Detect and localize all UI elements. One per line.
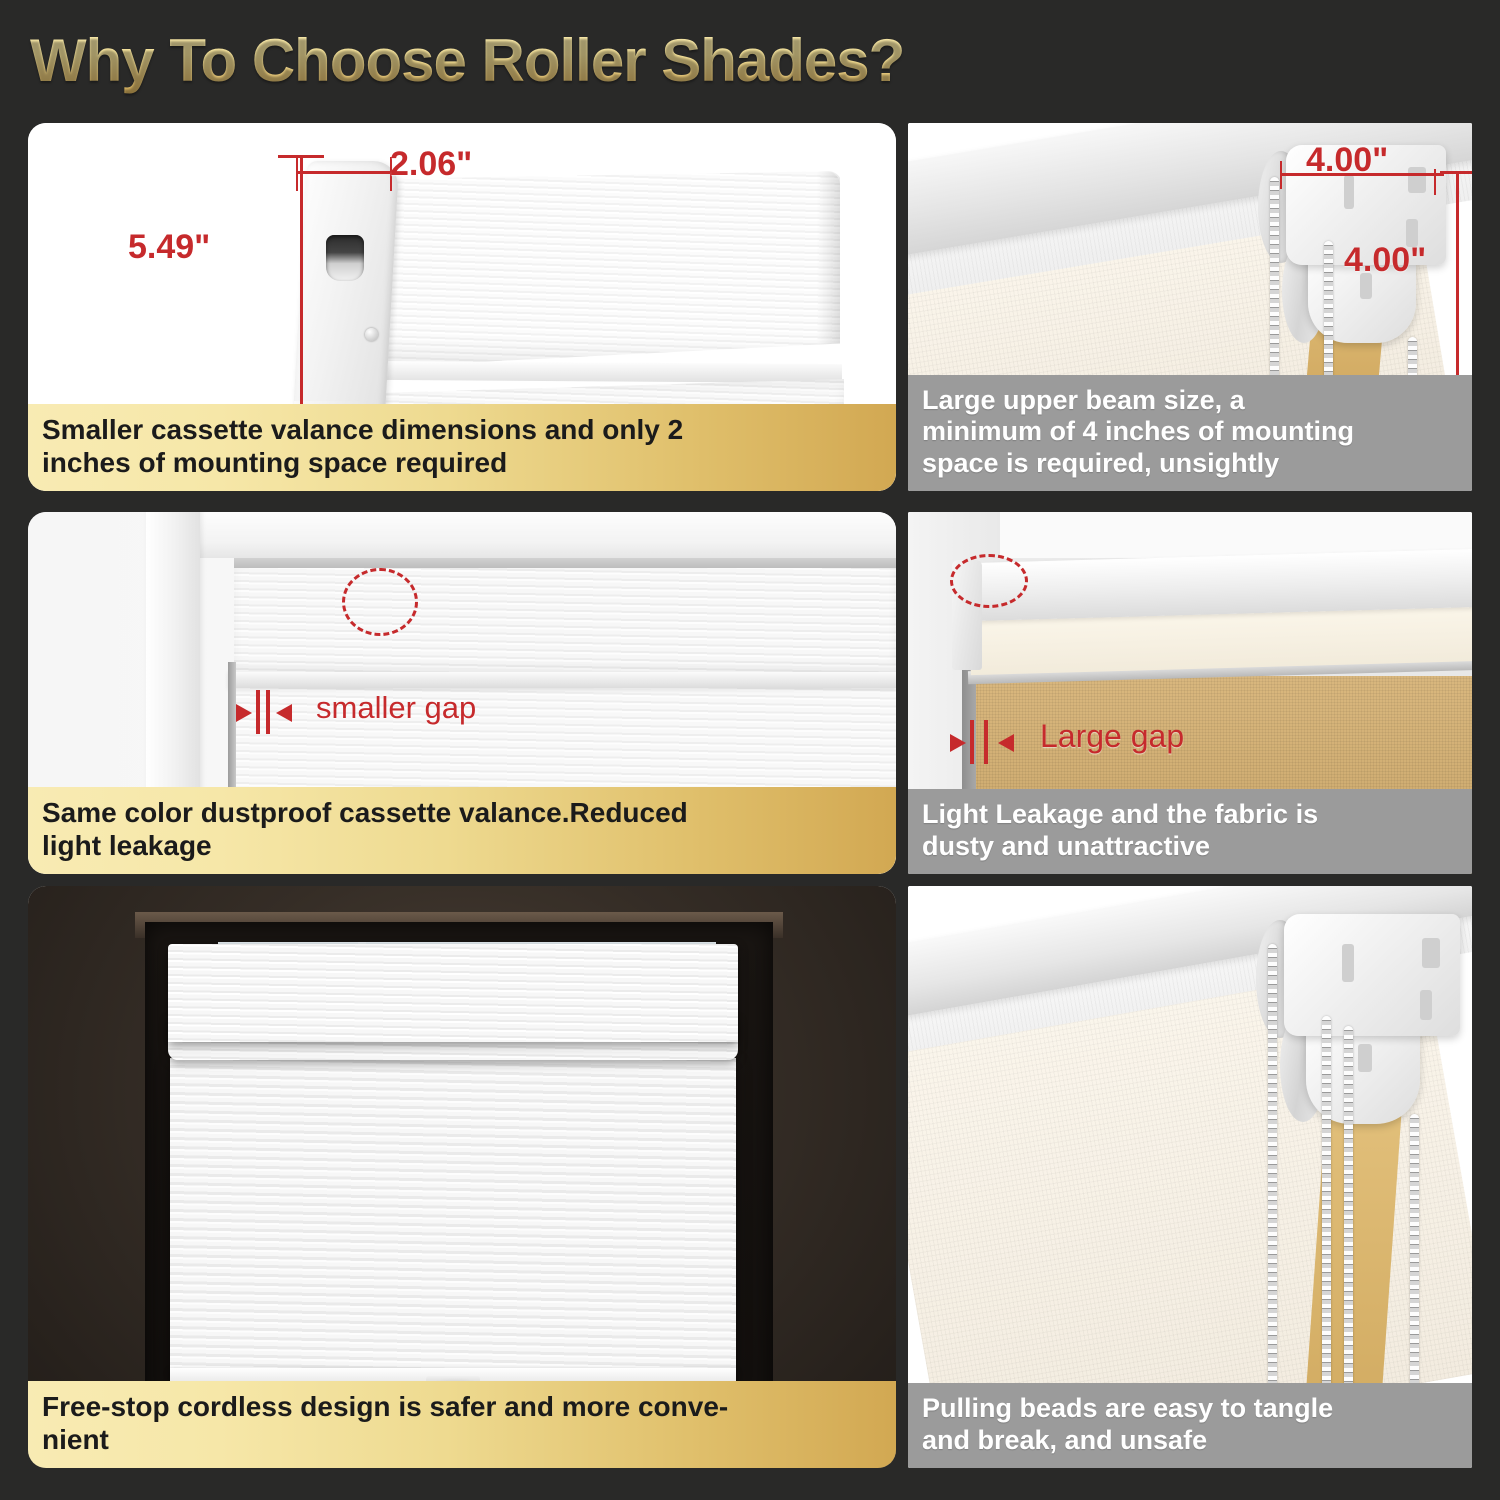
gap-callout-label-large: Large gap (1040, 718, 1184, 755)
caption-line: Pulling beads are easy to tangle (922, 1393, 1458, 1424)
dimension-label-width-400: 4.00" (1306, 141, 1388, 180)
caption-cassette-valance-dimensions: Smaller cassette valance dimensions and … (28, 404, 896, 491)
caption-free-stop-cordless-design: Free-stop cordless design is safer and m… (28, 1381, 896, 1468)
dimension-label-width-206: 2.06" (390, 145, 472, 184)
caption-line: Free-stop cordless design is safer and m… (42, 1391, 882, 1423)
panel-cassette-valance-dimensions[interactable]: 2.06" 5.49" Smaller cassette valance dim… (28, 123, 896, 491)
panel-pulling-beads-tangle[interactable]: Pulling beads are easy to tangle and bre… (908, 886, 1472, 1468)
caption-line: space is required, unsightly (922, 448, 1458, 479)
panel-dustproof-cassette-valance[interactable]: smaller gap Same color dustproof cassett… (28, 512, 896, 874)
panel-large-upper-beam[interactable]: 4.00" 4.00" Large upper beam size, a min… (908, 123, 1472, 491)
arrow-right-icon (950, 734, 966, 752)
caption-line: Large upper beam size, a (922, 385, 1458, 416)
caption-line: inches of mounting space required (42, 447, 882, 479)
caption-line: Smaller cassette valance dimensions and … (42, 414, 882, 446)
caption-light-leakage-dusty-fabric: Light Leakage and the fabric is dusty an… (908, 789, 1472, 874)
caption-line: light leakage (42, 830, 882, 862)
caption-line: minimum of 4 inches of mounting (922, 416, 1458, 447)
dimension-label-height-400: 4.00" (1344, 241, 1426, 280)
caption-line: dusty and unattractive (922, 831, 1458, 862)
highlight-circle-icon (950, 554, 1028, 608)
gap-callout-label-smaller: smaller gap (316, 690, 476, 726)
caption-line: nient (42, 1424, 882, 1456)
arrow-left-icon (276, 704, 292, 722)
caption-line: Same color dustproof cassette valance.Re… (42, 797, 882, 829)
caption-pulling-beads-tangle: Pulling beads are easy to tangle and bre… (908, 1383, 1472, 1468)
caption-line: Light Leakage and the fabric is (922, 799, 1458, 830)
arrow-right-icon (236, 704, 252, 722)
panel-light-leakage-dusty-fabric[interactable]: Large gap Light Leakage and the fabric i… (908, 512, 1472, 874)
product-photo-pulling-beads (908, 886, 1472, 1468)
caption-large-upper-beam: Large upper beam size, a minimum of 4 in… (908, 375, 1472, 491)
caption-line: and break, and unsafe (922, 1425, 1458, 1456)
caption-dustproof-cassette-valance: Same color dustproof cassette valance.Re… (28, 787, 896, 874)
highlight-circle-icon (342, 568, 418, 636)
arrow-left-icon (998, 734, 1014, 752)
panel-free-stop-cordless-design[interactable]: Free-stop cordless design is safer and m… (28, 886, 896, 1468)
page-title: Why To Choose Roller Shades? (30, 22, 1130, 100)
dimension-label-height-549: 5.49" (128, 228, 210, 267)
